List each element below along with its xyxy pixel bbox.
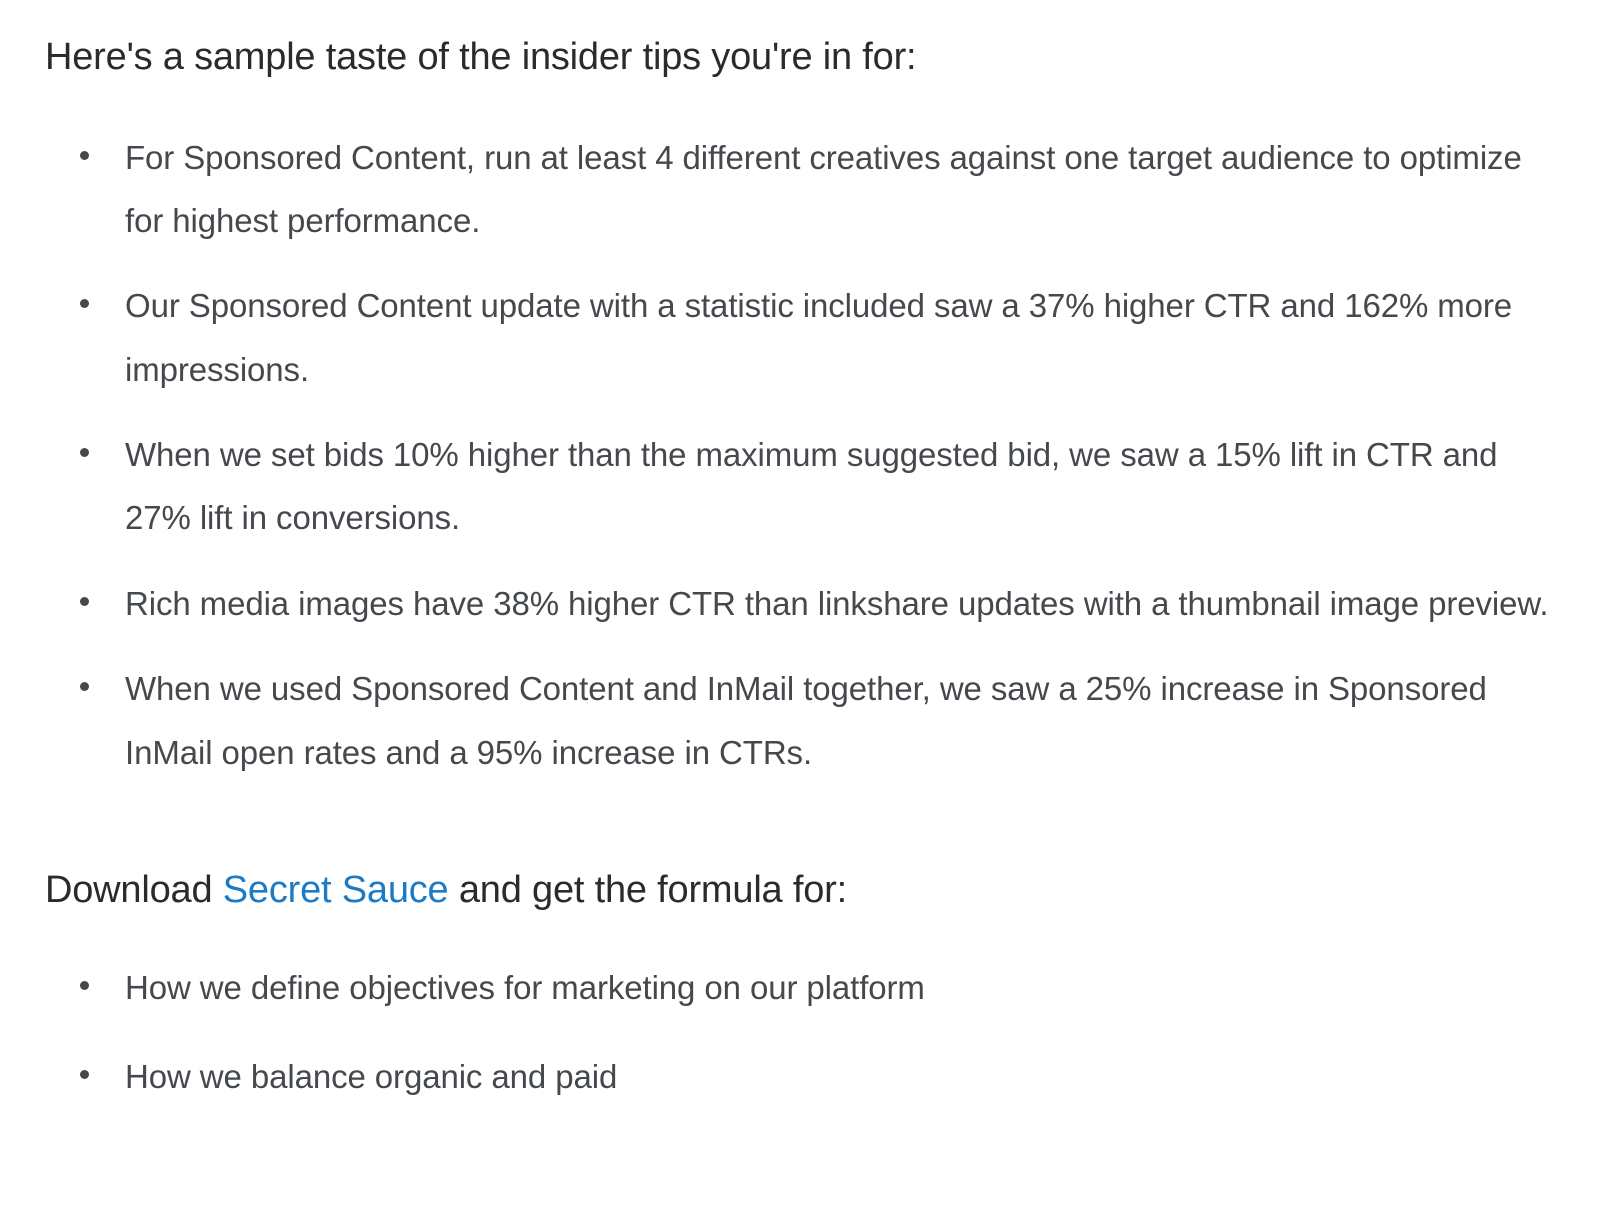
- bullet-point-icon: [80, 1070, 89, 1079]
- list-item-text: How we balance organic and paid: [125, 1045, 1560, 1108]
- bullet-point-icon: [80, 448, 89, 457]
- download-heading-suffix: and get the formula for:: [449, 869, 847, 911]
- section-spacer: [45, 784, 1560, 856]
- secret-sauce-link[interactable]: Secret Sauce: [223, 869, 449, 911]
- list-item: Our Sponsored Content update with a stat…: [45, 274, 1560, 401]
- list-item-text: Our Sponsored Content update with a stat…: [125, 274, 1560, 401]
- list-item-text: For Sponsored Content, run at least 4 di…: [125, 126, 1560, 253]
- list-item-text: Rich media images have 38% higher CTR th…: [125, 572, 1560, 635]
- bullet-point-icon: [80, 299, 89, 308]
- bullet-point-icon: [80, 597, 89, 606]
- formula-list: How we define objectives for marketing o…: [45, 956, 1560, 1108]
- bullet-point-icon: [80, 151, 89, 160]
- bullet-point-icon: [80, 981, 89, 990]
- list-item: How we balance organic and paid: [45, 1045, 1560, 1108]
- list-item-text: How we define objectives for marketing o…: [125, 956, 1560, 1019]
- list-item-text: When we used Sponsored Content and InMai…: [125, 657, 1560, 784]
- download-heading-prefix: Download: [45, 869, 223, 911]
- download-heading: Download Secret Sauce and get the formul…: [45, 856, 1560, 915]
- list-item: When we used Sponsored Content and InMai…: [45, 657, 1560, 784]
- bullet-point-icon: [80, 682, 89, 691]
- list-item: Rich media images have 38% higher CTR th…: [45, 572, 1560, 635]
- insider-tips-list: For Sponsored Content, run at least 4 di…: [45, 126, 1560, 784]
- list-item: When we set bids 10% higher than the max…: [45, 423, 1560, 550]
- article-content-page: Here's a sample taste of the insider tip…: [0, 0, 1600, 1223]
- list-item-text: When we set bids 10% higher than the max…: [125, 423, 1560, 550]
- list-item: How we define objectives for marketing o…: [45, 956, 1560, 1019]
- list-item: For Sponsored Content, run at least 4 di…: [45, 126, 1560, 253]
- intro-heading: Here's a sample taste of the insider tip…: [45, 0, 1560, 82]
